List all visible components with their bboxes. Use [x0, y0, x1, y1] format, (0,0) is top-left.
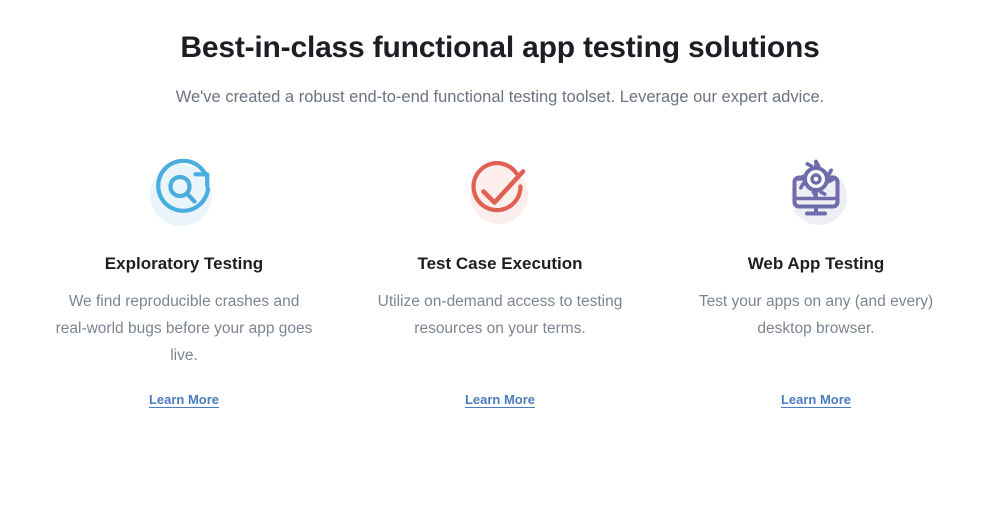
learn-more-link[interactable]: Learn More — [465, 392, 535, 407]
feature-card-link-row: Learn More — [465, 370, 535, 409]
feature-card-description: We find reproducible crashes and real-wo… — [54, 275, 314, 370]
learn-more-link[interactable]: Learn More — [149, 392, 219, 407]
feature-card-description: Test your apps on any (and every) deskto… — [686, 275, 946, 343]
feature-card-link-row: Learn More — [149, 370, 219, 409]
feature-section: Best-in-class functional app testing sol… — [0, 0, 1000, 528]
monitor-gear-icon — [768, 153, 864, 231]
feature-card-test-case-execution: Test Case Execution Utilize on-demand ac… — [342, 153, 658, 409]
feature-card-exploratory-testing: Exploratory Testing We find reproducible… — [26, 153, 342, 409]
feature-card-description: Utilize on-demand access to testing reso… — [370, 275, 630, 343]
feature-card-link-row: Learn More — [781, 370, 851, 409]
feature-card-title: Exploratory Testing — [105, 231, 263, 275]
feature-card-list: Exploratory Testing We find reproducible… — [26, 109, 974, 409]
magnifier-refresh-icon — [136, 153, 232, 231]
page-subtitle: We've created a robust end-to-end functi… — [0, 67, 1000, 109]
feature-card-title: Web App Testing — [748, 231, 885, 275]
feature-card-web-app-testing: Web App Testing Test your apps on any (a… — [658, 153, 974, 409]
feature-card-title: Test Case Execution — [417, 231, 582, 275]
page-title: Best-in-class functional app testing sol… — [0, 0, 1000, 67]
learn-more-link[interactable]: Learn More — [781, 392, 851, 407]
checkmark-circle-icon — [452, 153, 548, 231]
